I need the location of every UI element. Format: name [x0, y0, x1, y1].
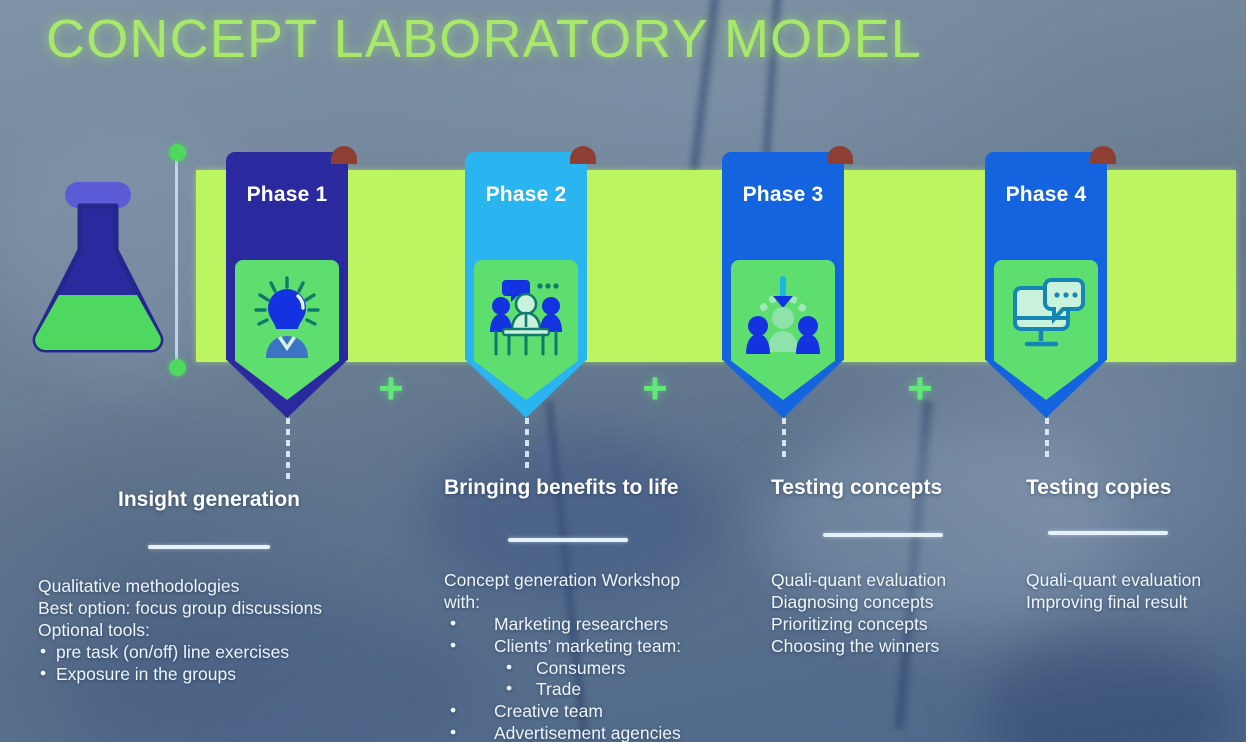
timeline-axis-line — [175, 152, 178, 368]
detail-line: Qualitative methodologies — [38, 576, 322, 598]
detail-line: Quali-quant evaluation — [1026, 570, 1201, 592]
phase-1-rule — [148, 545, 270, 549]
target-selection-people-icon — [744, 274, 822, 358]
phase-4-rule — [1048, 531, 1168, 535]
connector-plus-1: + — [374, 372, 408, 408]
phase-2-details: Concept generation Workshop with: Market… — [444, 570, 681, 742]
phase-pin-2[interactable]: Phase 2 — [465, 152, 587, 418]
phase-pin-4-red-cap — [1090, 146, 1116, 164]
connector-plus-3: + — [903, 372, 937, 408]
page-title: CONCEPT LABORATORY MODEL — [46, 8, 922, 70]
detail-line: Concept generation Workshop — [444, 570, 681, 592]
phase-pin-2-red-cap — [570, 146, 596, 164]
detail-line: Diagnosing concepts — [771, 592, 946, 614]
phase-1-caption: Insight generation — [118, 488, 300, 512]
phase-4-dropper-line — [1045, 418, 1049, 462]
background-blob — [980, 640, 1240, 742]
detail-line: Best option: focus group discussions — [38, 598, 322, 620]
laboratory-flask-icon — [18, 178, 178, 358]
phase-pin-1-red-cap — [331, 146, 357, 164]
slide-canvas: CONCEPT LABORATORY MODEL Phase 1 — [0, 0, 1246, 742]
phase-pin-1-label: Phase 1 — [226, 183, 348, 207]
phase-1-details: Qualitative methodologies Best option: f… — [38, 576, 322, 685]
detail-line: Choosing the winners — [771, 636, 946, 658]
detail-bullet: pre task (on/off) line exercises — [38, 642, 322, 664]
phase-1-dropper-line — [286, 418, 290, 480]
phase-pin-4[interactable]: Phase 4 — [985, 152, 1107, 418]
detail-line: Improving final result — [1026, 592, 1201, 614]
detail-bullet: Marketing researchers — [444, 614, 681, 636]
phase-3-rule — [823, 533, 943, 537]
detail-line: Prioritizing concepts — [771, 614, 946, 636]
phase-pin-1[interactable]: Phase 1 — [226, 152, 348, 418]
detail-bullet: Exposure in the groups — [38, 664, 322, 686]
detail-bullet: Creative team — [444, 701, 681, 723]
phase-pin-2-label: Phase 2 — [465, 183, 587, 207]
focus-group-table-icon — [487, 274, 565, 358]
timeline-dot-bottom — [169, 359, 186, 376]
phase-pin-4-label: Phase 4 — [985, 183, 1107, 207]
monitor-chat-icon — [1007, 274, 1085, 358]
detail-line: Optional tools: — [38, 620, 322, 642]
phase-2-rule — [508, 538, 628, 542]
phase-pin-3[interactable]: Phase 3 — [722, 152, 844, 418]
detail-line: with: — [444, 592, 681, 614]
connector-plus-2: + — [638, 372, 672, 408]
detail-bullet: Clients’ marketing team: — [444, 636, 681, 658]
detail-bullet: Advertisement agencies — [444, 723, 681, 742]
timeline-axis-marker — [171, 144, 183, 376]
phase-3-details: Quali-quant evaluation Diagnosing concep… — [771, 570, 946, 658]
background-streak — [891, 400, 938, 730]
phase-2-caption: Bringing benefits to life — [444, 476, 679, 500]
lightbulb-person-icon — [248, 274, 326, 358]
detail-line: Quali-quant evaluation — [771, 570, 946, 592]
phase-4-details: Quali-quant evaluation Improving final r… — [1026, 570, 1201, 614]
timeline-dot-top — [169, 144, 186, 161]
phase-2-dropper-line — [525, 418, 529, 468]
phase-pin-3-red-cap — [827, 146, 853, 164]
phase-4-caption: Testing copies — [1026, 476, 1171, 500]
phase-3-caption: Testing concepts — [771, 476, 942, 500]
detail-bullet: Trade — [444, 679, 681, 701]
detail-bullet: Consumers — [444, 658, 681, 680]
phase-pin-3-label: Phase 3 — [722, 183, 844, 207]
phase-3-dropper-line — [782, 418, 786, 462]
